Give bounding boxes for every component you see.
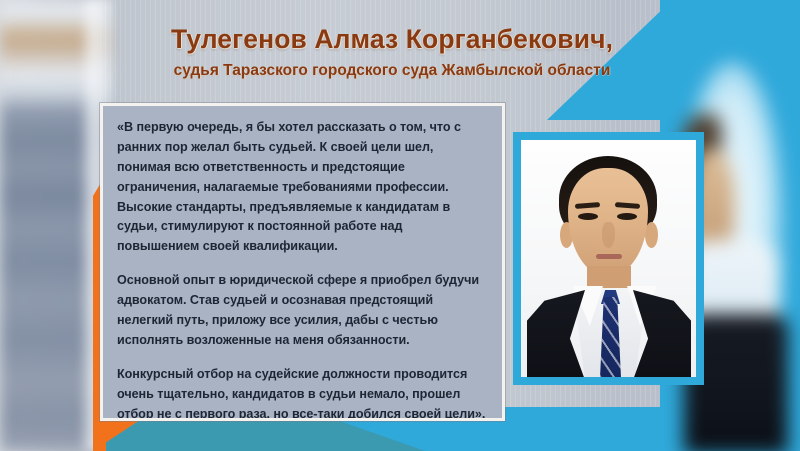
portrait-eye-left (578, 213, 598, 220)
slide-heading: Тулегенов Алмаз Корганбекович, судья Тар… (112, 24, 672, 80)
portrait-photo (521, 140, 696, 377)
portrait-eye-right (617, 213, 637, 220)
quote-paragraph-1: «В первую очередь, я бы хотел рассказать… (117, 118, 488, 257)
quote-box: «В первую очередь, я бы хотел рассказать… (100, 103, 505, 421)
slide: Тулегенов Алмаз Корганбекович, судья Тар… (0, 0, 800, 451)
blurred-person-suit (684, 314, 788, 451)
portrait-nose (602, 222, 615, 248)
page-title: Тулегенов Алмаз Корганбекович, (112, 24, 672, 55)
portrait-inner (521, 140, 696, 377)
portrait-mouth (596, 254, 622, 259)
quote-paragraph-3: Конкурсный отбор на судейские должности … (117, 365, 488, 421)
portrait-jacket-left (527, 290, 585, 377)
quote-paragraph-2: Основной опыт в юридической сфере я прио… (117, 271, 488, 351)
page-subtitle: судья Таразского городского суда Жамбылс… (112, 62, 672, 80)
portrait-jacket-right (633, 290, 691, 377)
